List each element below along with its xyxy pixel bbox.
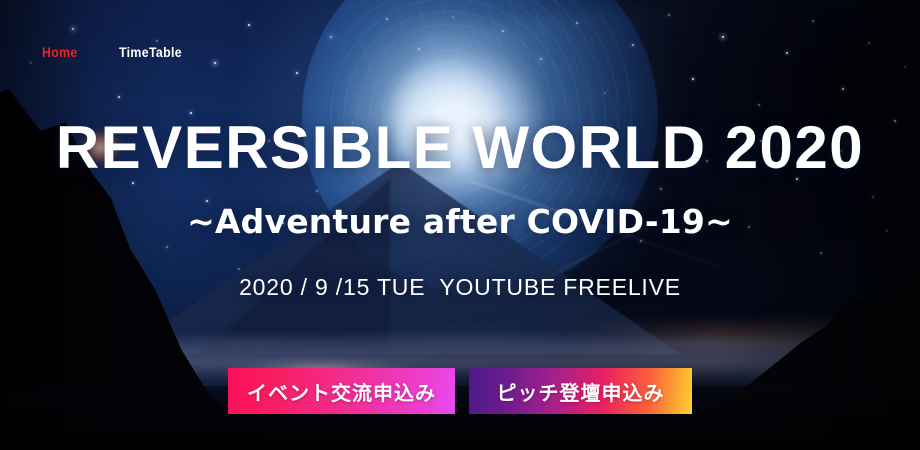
star xyxy=(214,62,216,64)
star xyxy=(72,28,74,30)
nav-link-timetable[interactable]: TimeTable xyxy=(119,44,182,60)
star xyxy=(786,52,788,54)
star xyxy=(820,252,822,254)
star xyxy=(30,62,32,64)
main-navigation: Home TimeTable xyxy=(42,44,190,60)
star xyxy=(904,66,906,68)
cta-button-row: イベント交流申込み ピッチ登壇申込み xyxy=(0,368,920,414)
event-signup-button[interactable]: イベント交流申込み xyxy=(228,368,455,414)
event-datetime: 2020 / 9 /15 TUE YOUTUBE FREELIVE xyxy=(0,276,920,299)
page-title: REVERSIBLE WORLD 2020 xyxy=(0,118,920,178)
star xyxy=(156,40,158,42)
pitch-signup-button[interactable]: ピッチ登壇申込み xyxy=(469,368,692,414)
nav-link-home[interactable]: Home xyxy=(42,44,78,60)
page-subtitle: ~Adventure after COVID-19~ xyxy=(0,205,920,238)
star xyxy=(812,20,814,22)
hero-banner: Home TimeTable REVERSIBLE WORLD 2020 ~Ad… xyxy=(0,0,920,450)
star xyxy=(842,88,844,90)
star xyxy=(248,24,250,26)
star xyxy=(868,42,870,44)
star xyxy=(872,196,874,198)
star xyxy=(118,96,120,98)
